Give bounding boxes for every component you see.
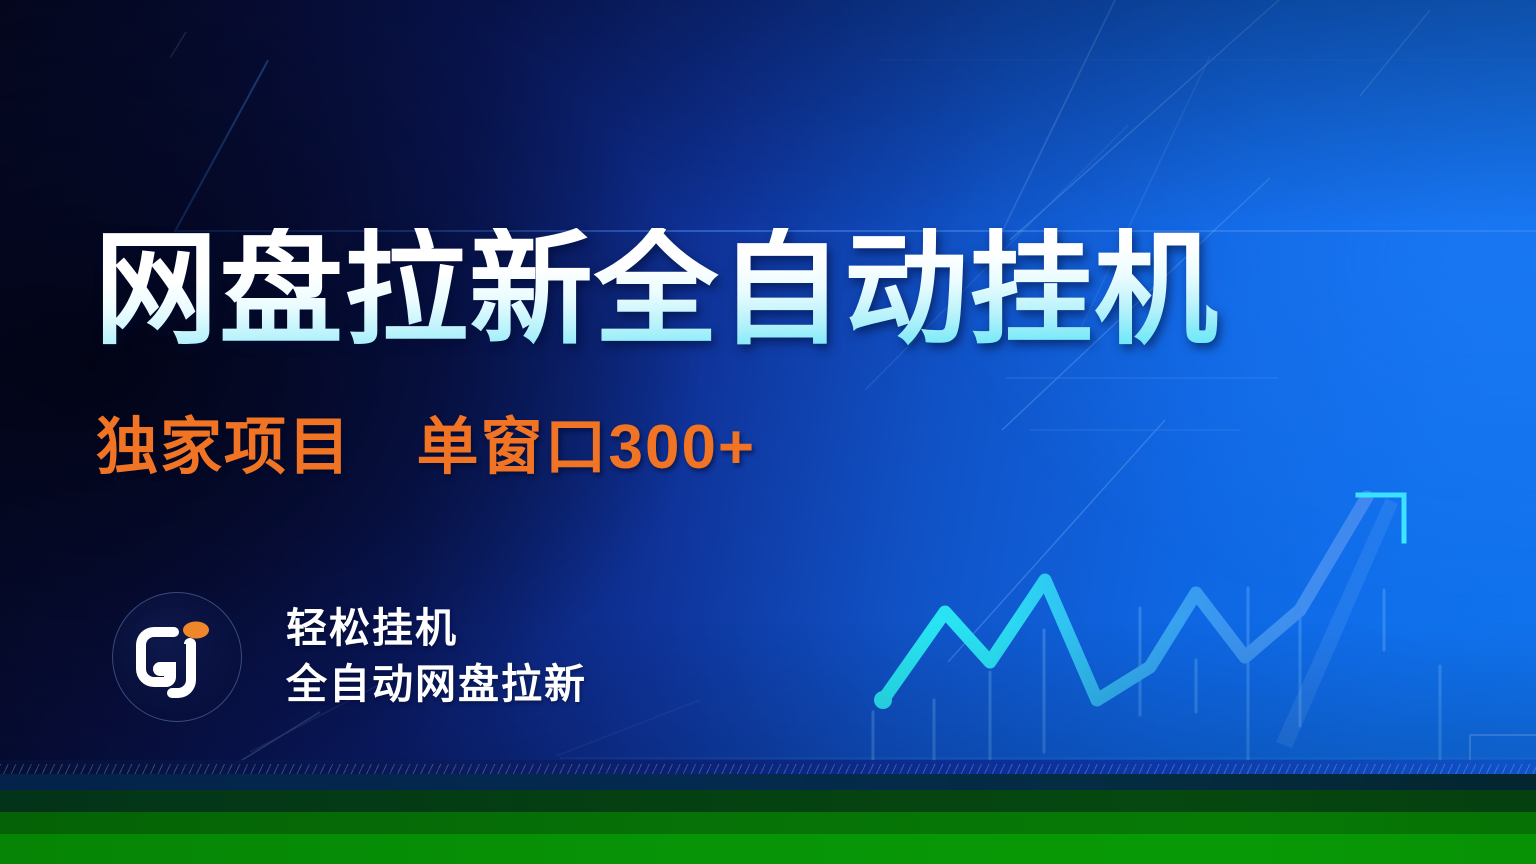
subtitle: 独家项目 单窗口300+ <box>96 417 756 479</box>
promo-banner: 网盘拉新全自动挂机 独家项目 单窗口300+ 轻松挂机 全自动网盘拉新 <box>0 0 1536 864</box>
band-teal-dark <box>0 774 1536 790</box>
logo-gj-icon <box>112 592 242 722</box>
subtitle-left: 独家项目 <box>96 413 352 482</box>
bottom-color-bands <box>0 760 1536 864</box>
band-green-dark <box>0 790 1536 812</box>
logo-badge <box>112 592 242 722</box>
page-title: 网盘拉新全自动挂机 <box>94 228 1219 352</box>
band-navy <box>0 760 1536 774</box>
tagline: 轻松挂机 全自动网盘拉新 <box>286 606 587 708</box>
band-green-bright <box>0 834 1536 864</box>
brand-block: 轻松挂机 全自动网盘拉新 <box>112 592 587 722</box>
tagline-line-2: 全自动网盘拉新 <box>286 662 587 708</box>
orange-dot-icon <box>183 622 209 639</box>
subtitle-right: 单窗口300+ <box>416 413 756 482</box>
band-green-mid <box>0 812 1536 834</box>
tagline-line-1: 轻松挂机 <box>286 606 587 652</box>
